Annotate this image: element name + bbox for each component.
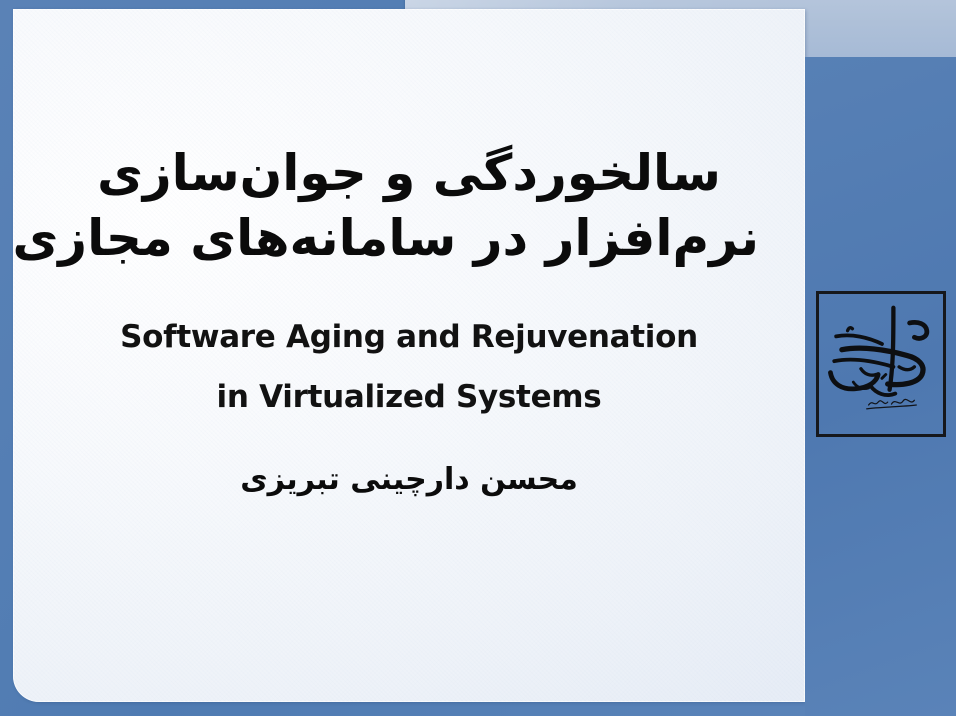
- presentation-slide: سالخوردگی و جوان‌سازی نرم‌افزار در سامان…: [0, 0, 956, 716]
- author-name: محسن دارچینی تبریزی: [240, 462, 578, 497]
- subtitle-line-2: in Virtualized Systems: [49, 367, 769, 427]
- title-line-2: نرم‌افزار در سامانه‌های مجازی: [59, 206, 759, 271]
- title-line-1: سالخوردگی و جوان‌سازی: [59, 141, 759, 206]
- page-subtitle: Software Aging and Rejuvenation in Virtu…: [49, 307, 769, 428]
- subtitle-line-1: Software Aging and Rejuvenation: [49, 307, 769, 367]
- calligraphy-seal: [816, 291, 946, 437]
- page-title: سالخوردگی و جوان‌سازی نرم‌افزار در سامان…: [59, 141, 759, 271]
- title-block: سالخوردگی و جوان‌سازی نرم‌افزار در سامان…: [13, 9, 805, 702]
